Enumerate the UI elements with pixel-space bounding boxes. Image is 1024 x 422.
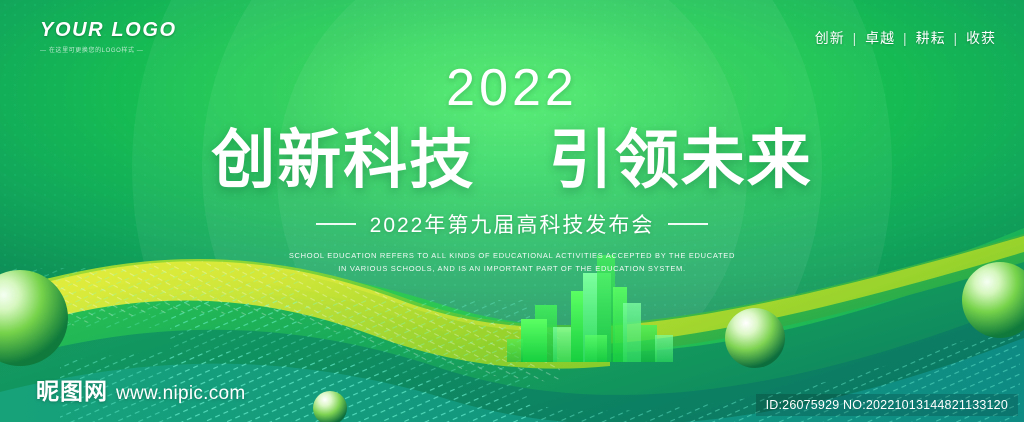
sphere-center-right <box>725 308 785 368</box>
event-subtitle: 2022年第九届高科技发布会 <box>370 209 655 239</box>
slogan-item-4: 收获 <box>966 30 996 46</box>
english-line-1: SCHOOL EDUCATION REFERS TO ALL KINDS OF … <box>0 250 1024 262</box>
slogan-item-3: 耕耘 <box>916 30 946 46</box>
english-description: SCHOOL EDUCATION REFERS TO ALL KINDS OF … <box>0 250 1024 275</box>
watermark-brand-cn: 昵图网 <box>36 372 108 406</box>
watermark: 昵图网 www.nipic.com <box>36 372 246 406</box>
headline-right: 引领未来 <box>549 124 813 196</box>
dash-right-icon <box>668 223 708 225</box>
logo-subtitle: — 在这里可更换您的LOGO样式 — <box>40 45 177 54</box>
watermark-url: www.nipic.com <box>116 383 246 405</box>
slogan-separator-3: | <box>950 30 961 46</box>
headline-left: 创新科技 <box>211 124 475 196</box>
slogan-separator-2: | <box>900 30 911 46</box>
subtitle-row: 2022年第九届高科技发布会 <box>0 209 1024 239</box>
slogan-separator-1: | <box>850 30 861 46</box>
year-label: 2022 <box>0 62 1024 114</box>
slogan-strip: 创新 | 卓越 | 耕耘 | 收获 <box>815 28 996 48</box>
banner-canvas: YOUR LOGO — 在这里可更换您的LOGO样式 — 创新 | 卓越 | 耕… <box>0 0 1024 422</box>
dash-left-icon <box>316 223 356 225</box>
headline: 创新科技 引领未来 <box>0 128 1024 193</box>
main-copy-block: 2022 创新科技 引领未来 2022年第九届高科技发布会 SCHOOL EDU… <box>0 62 1024 275</box>
logo-block[interactable]: YOUR LOGO — 在这里可更换您的LOGO样式 — <box>40 20 177 54</box>
slogan-item-1: 创新 <box>815 30 845 46</box>
slogan-item-2: 卓越 <box>865 30 895 46</box>
asset-id-label: ID:26075929 NO:20221013144821133120 <box>756 394 1018 416</box>
english-line-2: IN VARIOUS SCHOOLS, AND IS AN IMPORTANT … <box>0 263 1024 275</box>
logo-text: YOUR LOGO <box>40 20 177 40</box>
